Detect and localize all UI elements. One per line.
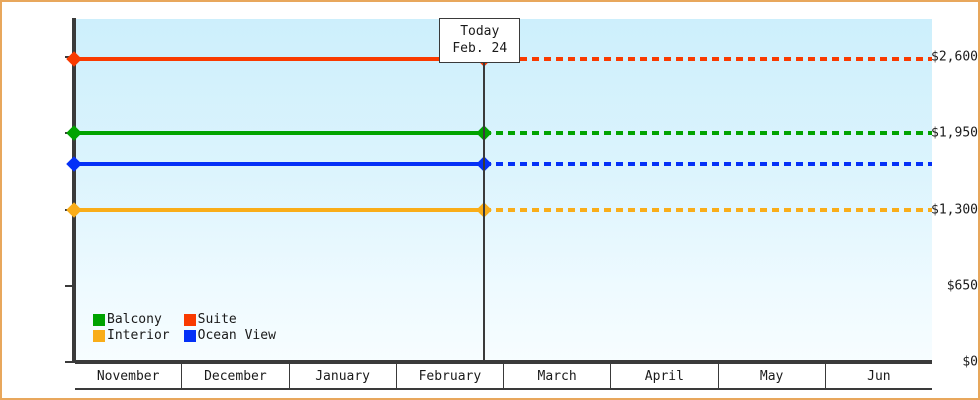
legend-item-interior[interactable]: Interior [93,329,170,342]
month-cell-january[interactable]: January [290,364,397,388]
cruise-cabin-price-chart: $0$650$1,300$1,950$2,600 Today Feb. 24 B… [0,0,980,400]
y-axis-tick-label: $650 [910,279,978,292]
month-cell-april[interactable]: April [611,364,718,388]
today-annotation-box: Today Feb. 24 [439,18,520,63]
month-axis: NovemberDecemberJanuaryFebruaryMarchApri… [75,362,932,390]
series-line-forecast-balcony [484,131,932,135]
month-cell-december[interactable]: December [182,364,289,388]
series-line-solid-suite [75,57,484,61]
series-line-solid-ocean-view [75,162,484,166]
month-cell-february[interactable]: February [397,364,504,388]
legend-label: Suite [198,313,237,326]
legend-item-balcony[interactable]: Balcony [93,313,170,326]
legend-item-ocean-view[interactable]: Ocean View [184,329,276,342]
series-line-solid-balcony [75,131,484,135]
legend-swatch-icon [184,330,196,342]
legend-swatch-icon [93,314,105,326]
series-line-forecast-interior [484,208,932,212]
month-cell-march[interactable]: March [504,364,611,388]
y-axis-line [72,18,76,363]
series-line-solid-interior [75,208,484,212]
month-cell-jun[interactable]: Jun [826,364,932,388]
today-label: Today [452,23,507,40]
legend-label: Interior [107,329,170,342]
month-cell-november[interactable]: November [75,364,182,388]
series-line-forecast-suite [484,57,932,61]
today-vertical-line [483,19,485,362]
legend-label: Balcony [107,313,162,326]
legend: BalconySuiteInteriorOcean View [93,313,276,342]
y-axis-tick-mark [65,361,73,363]
y-axis-tick-mark [65,285,73,287]
legend-swatch-icon [93,330,105,342]
plot-area [75,19,932,362]
legend-swatch-icon [184,314,196,326]
series-line-forecast-ocean-view [484,162,932,166]
legend-item-suite[interactable]: Suite [184,313,276,326]
month-cell-may[interactable]: May [719,364,826,388]
legend-label: Ocean View [198,329,276,342]
today-date: Feb. 24 [452,40,507,57]
